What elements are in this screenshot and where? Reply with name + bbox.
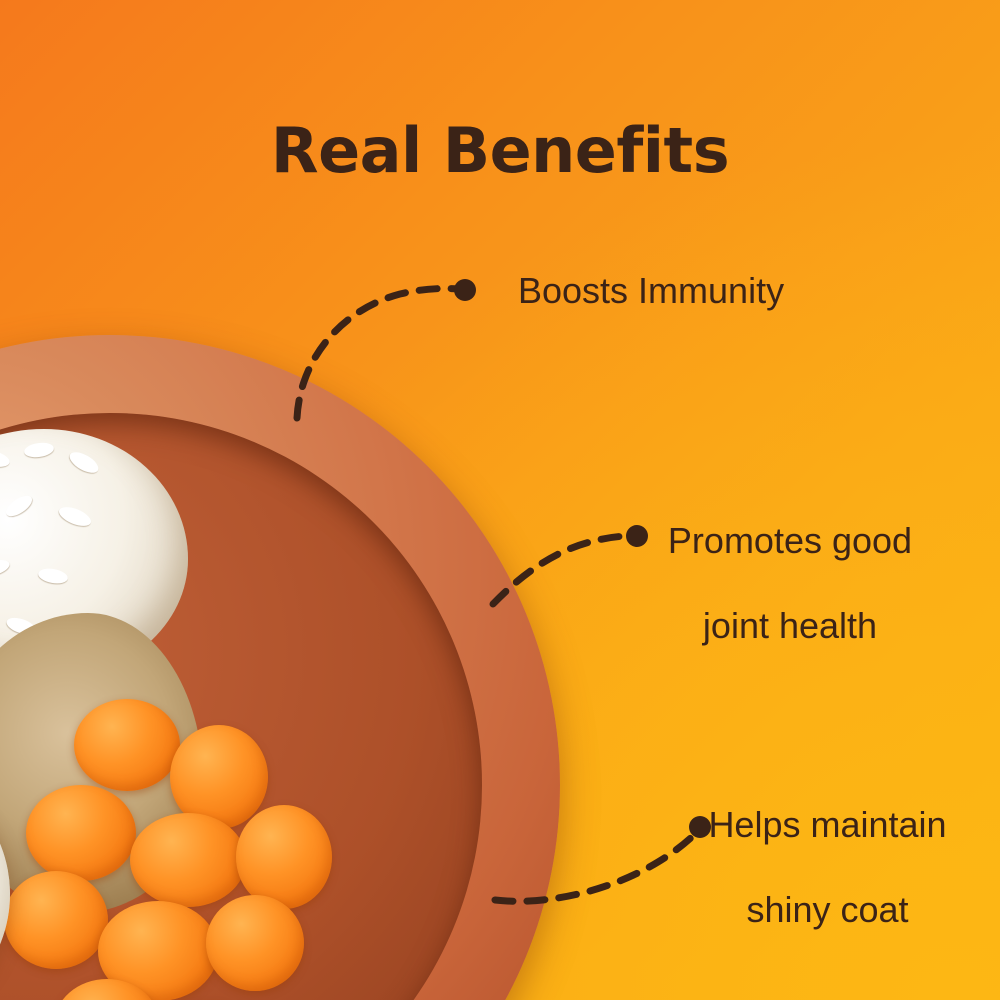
carrot-slice xyxy=(130,813,246,907)
benefits-poster: Real Benefits Boosts Immunity Promotes g… xyxy=(0,0,1000,1000)
dog-food-bowl-photo xyxy=(0,335,560,1000)
benefit-line: joint health xyxy=(703,605,877,646)
connector-dot-boosts-immunity xyxy=(454,279,476,301)
page-title: Real Benefits xyxy=(0,118,1000,183)
benefit-line: Helps maintain xyxy=(708,804,946,845)
carrot-slice xyxy=(4,871,108,969)
benefit-label-boosts-immunity: Boosts Immunity xyxy=(518,270,784,312)
carrot-slice xyxy=(236,805,332,909)
benefit-line: shiny coat xyxy=(746,889,908,930)
benefit-label-promotes-good-joint-health: Promotes good joint health xyxy=(645,478,935,648)
benefit-label-helps-maintain-shiny-coat: Helps maintain shiny coat xyxy=(690,762,965,932)
carrot-slice xyxy=(206,895,304,991)
carrot-slice xyxy=(74,699,180,791)
benefit-line: Promotes good xyxy=(668,520,912,561)
carrot-slice xyxy=(26,785,136,881)
